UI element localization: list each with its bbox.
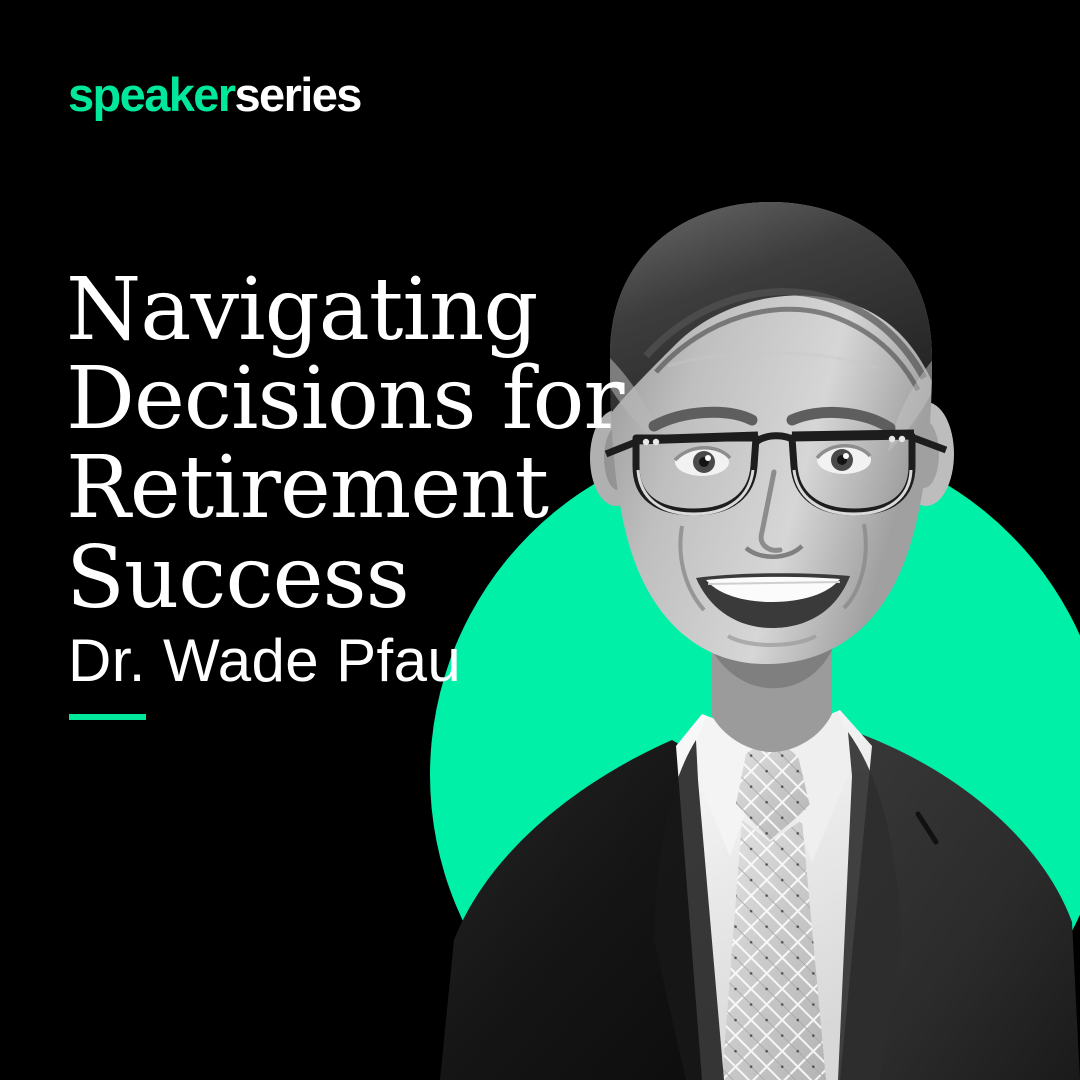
title-line-3: Retirement [66, 444, 586, 533]
logo-word-series: series [235, 68, 361, 121]
speaker-name: Dr. Wade Pfau [68, 628, 461, 694]
page-title: Navigating Decisions for Retirement Succ… [66, 266, 586, 624]
speaker-series-promo-card: speakerseries Navigating Decisions for R… [0, 0, 1080, 1080]
logo-word-speaker: speaker [68, 68, 235, 121]
speaker-series-logo: speakerseries [68, 71, 361, 118]
title-line-1: Navigating [66, 266, 586, 355]
title-line-2: Decisions for [66, 355, 586, 444]
green-underline-rule [69, 714, 146, 720]
title-line-4: Success [66, 534, 586, 623]
